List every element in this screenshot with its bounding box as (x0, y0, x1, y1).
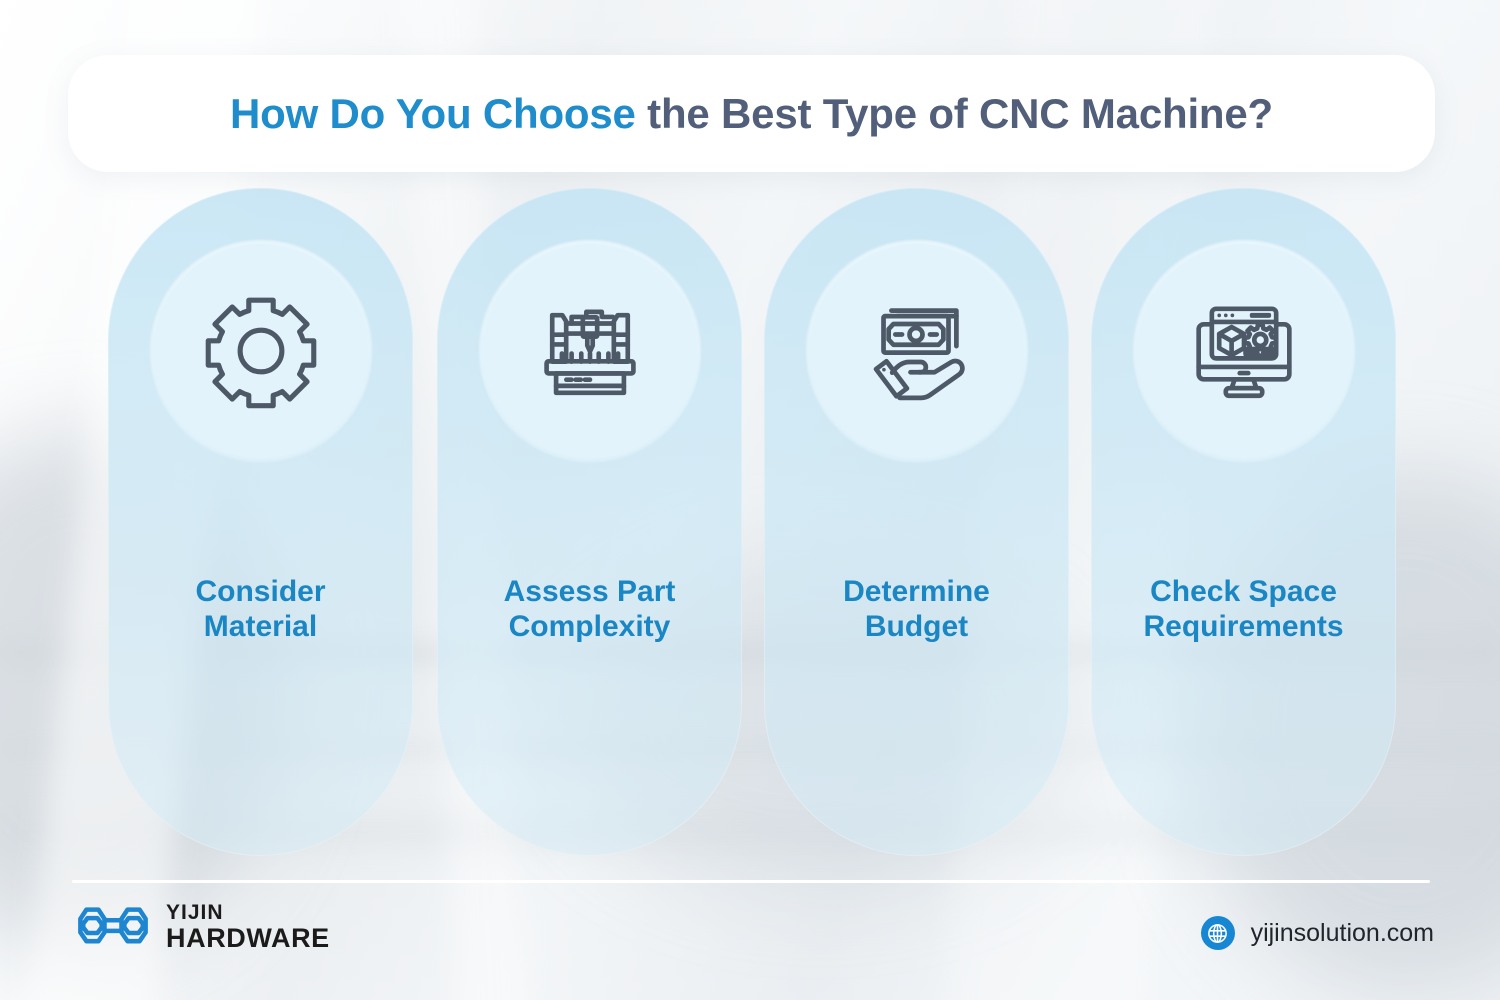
gear-icon (198, 288, 324, 414)
card-label-line1: Check Space (1150, 575, 1337, 608)
page-title-rest: the Best Type of CNC Machine? (647, 90, 1273, 137)
card-label: Assess Part Complexity (437, 574, 742, 644)
page-title-highlight: How Do You Choose (230, 90, 647, 137)
card-label: Check Space Requirements (1091, 574, 1396, 644)
infographic-canvas: How Do You Choose the Best Type of CNC M… (0, 0, 1500, 1000)
website-url-text: yijinsolution.com (1251, 919, 1434, 948)
page-title: How Do You Choose the Best Type of CNC M… (230, 93, 1273, 135)
card-label: Determine Budget (764, 574, 1069, 644)
cnc-machine-icon (528, 289, 652, 413)
card-label-line1: Consider (195, 575, 325, 608)
card-label: Consider Material (108, 574, 413, 644)
card-consider-material[interactable]: Consider Material (108, 188, 413, 856)
header-card: How Do You Choose the Best Type of CNC M… (68, 55, 1435, 172)
website-link[interactable]: yijinsolution.com (1201, 916, 1434, 950)
card-label-line2: Material (204, 610, 317, 643)
cad-monitor-icon (1182, 289, 1306, 413)
brand-logo: YIJIN HARDWARE (74, 902, 330, 952)
card-label-line2: Budget (865, 610, 968, 643)
globe-icon (1201, 916, 1235, 950)
brand-name-line2: HARDWARE (166, 925, 330, 952)
money-in-hand-icon (854, 288, 980, 414)
card-list: Consider Material (0, 188, 1500, 858)
brand-name-line1: YIJIN (166, 902, 330, 923)
card-label-line2: Requirements (1143, 610, 1343, 643)
icon-badge (154, 244, 368, 458)
icon-badge (483, 244, 697, 458)
card-assess-part-complexity[interactable]: Assess Part Complexity (437, 188, 742, 856)
icon-badge (1137, 244, 1351, 458)
card-determine-budget[interactable]: Determine Budget (764, 188, 1069, 856)
card-label-line1: Assess Part (504, 575, 676, 608)
brand-logo-text: YIJIN HARDWARE (166, 902, 330, 952)
icon-badge (810, 244, 1024, 458)
yijin-infinity-logo-icon (74, 902, 152, 952)
card-check-space-requirements[interactable]: Check Space Requirements (1091, 188, 1396, 856)
card-label-line1: Determine (843, 575, 990, 608)
card-label-line2: Complexity (509, 610, 671, 643)
footer-divider (72, 880, 1430, 883)
